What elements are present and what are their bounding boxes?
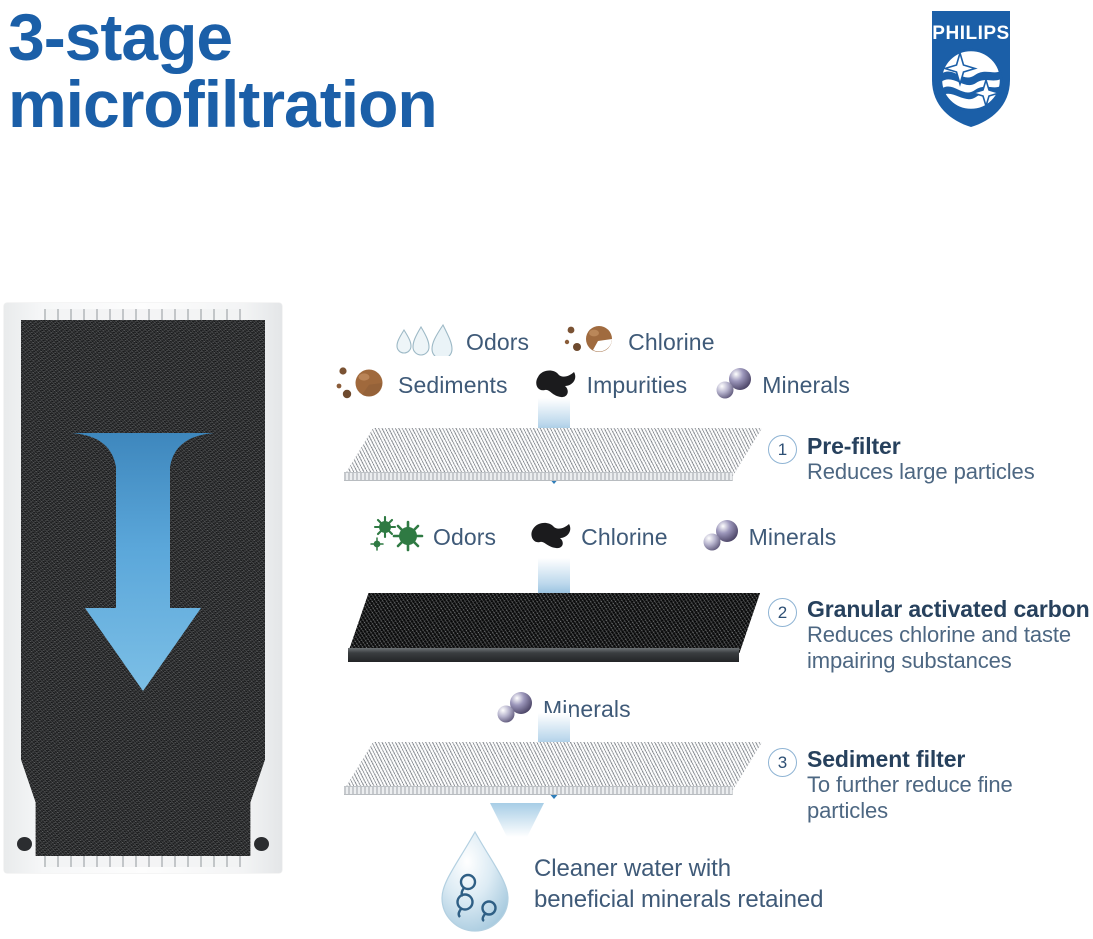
cartridge-tab-right: [254, 837, 269, 851]
chlorine-blob-icon: [530, 520, 574, 555]
contaminant-row-2: Sediments Impurities: [335, 364, 850, 407]
philips-shield-logo: PHILIPS: [929, 8, 1013, 130]
page-title: 3-stage microfiltration: [8, 4, 648, 139]
cartridge-bottom-slots: [44, 856, 242, 867]
stage-description: Reduces chlorine and taste impairing sub…: [807, 622, 1090, 673]
slab-surface: [348, 593, 760, 653]
water-drop-icon: [432, 830, 518, 939]
contaminant-label: Sediments: [398, 372, 508, 399]
cartridge-flow-arrow-icon: [72, 433, 214, 733]
mid-label: Chlorine: [581, 524, 667, 551]
contaminant-label: Odors: [466, 329, 529, 356]
slab-edge: [348, 648, 739, 662]
cartridge-tab-left: [17, 837, 32, 851]
contaminant-label: Minerals: [762, 372, 850, 399]
stage-3-text: 3 Sediment filter To further reduce fine…: [768, 746, 1093, 824]
mid-label: Minerals: [749, 524, 837, 551]
mineral-spheres-icon: [713, 366, 755, 405]
filter-layer-pre-filter: [344, 428, 762, 490]
slab-edge: [344, 786, 733, 795]
remaining-chlorine: Chlorine: [530, 520, 667, 555]
contaminant-chlorine: Chlorine: [563, 322, 714, 363]
slab-edge: [344, 472, 733, 481]
contaminant-label: Impurities: [587, 372, 688, 399]
outcome-text: Cleaner water with beneficial minerals r…: [534, 854, 823, 915]
stage-number-badge: 2: [768, 598, 797, 627]
stage-title: Sediment filter: [807, 746, 1093, 772]
stage-2-text: 2 Granular activated carbon Reduces chlo…: [768, 596, 1090, 674]
sediment-particles-icon: [335, 364, 391, 407]
slab-surface: [344, 428, 762, 476]
stage-description: To further reduce fine particles: [807, 772, 1093, 823]
remaining-odors: Odors: [370, 516, 496, 559]
contaminant-odors: Odors: [395, 324, 529, 361]
cartridge-top-slots: [44, 309, 242, 320]
stage-1-text: 1 Pre-filter Reduces large particles: [768, 433, 1035, 485]
filter-layer-activated-carbon: [348, 593, 760, 669]
mid-row-after-stage-1: Odors Chlorine Minerals: [370, 516, 836, 559]
stage-title: Granular activated carbon: [807, 596, 1090, 622]
microbe-odor-icon: [370, 516, 426, 559]
contaminant-sediments: Sediments: [335, 364, 508, 407]
contaminant-row-1: Odors Chlorine: [395, 322, 715, 363]
stage-number-badge: 3: [768, 748, 797, 777]
contaminant-label: Chlorine: [628, 329, 714, 356]
headline-line-2: microfiltration: [8, 71, 648, 138]
stage-description: Reduces large particles: [807, 459, 1035, 485]
contaminant-minerals: Minerals: [713, 366, 850, 405]
svg-text:PHILIPS: PHILIPS: [932, 23, 1009, 44]
mineral-spheres-icon: [700, 518, 742, 557]
mid-label: Odors: [433, 524, 496, 551]
water-filter-cartridge: [4, 303, 282, 873]
stage-title: Pre-filter: [807, 433, 1035, 459]
filter-layer-sediment-filter: [344, 742, 762, 804]
headline-line-1: 3-stage: [8, 4, 648, 71]
stage-number-badge: 1: [768, 435, 797, 464]
water-droplets-icon: [395, 324, 459, 361]
slab-surface: [344, 742, 762, 790]
outcome-block: Cleaner water with beneficial minerals r…: [432, 830, 823, 939]
remaining-minerals: Minerals: [700, 518, 837, 557]
chlorine-particles-icon: [563, 322, 621, 363]
